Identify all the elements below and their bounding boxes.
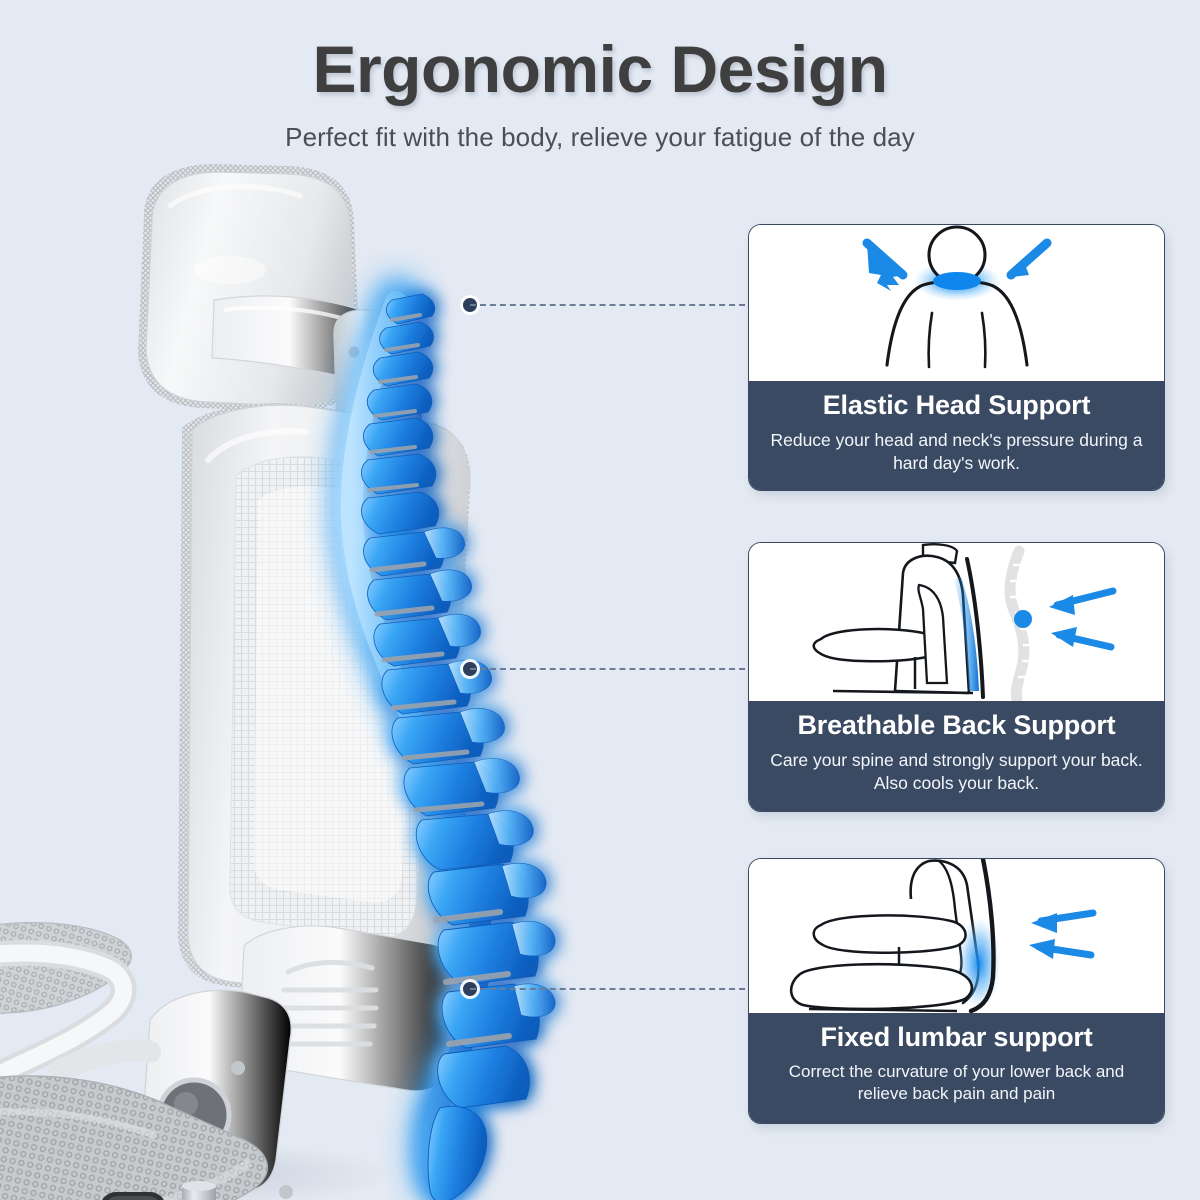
head-neck-support-icon bbox=[807, 225, 1107, 381]
chair-lumbar-icon bbox=[787, 859, 1127, 1013]
header: Ergonomic Design Perfect fit with the bo… bbox=[0, 0, 1200, 172]
bracket-bolt-top bbox=[231, 1061, 245, 1075]
product-image-chair-with-spine bbox=[0, 160, 748, 1200]
arrow-left-icon bbox=[867, 243, 903, 291]
sacrum-coccyx bbox=[427, 1106, 486, 1200]
card-description: Correct the curvature of your lower back… bbox=[763, 1061, 1150, 1106]
connector-back bbox=[463, 662, 755, 676]
connector-head bbox=[463, 298, 755, 312]
card-figure-head bbox=[749, 225, 1164, 381]
connector-line-lumbar bbox=[470, 988, 755, 990]
card-title: Elastic Head Support bbox=[763, 390, 1150, 422]
feature-card-breathable-back-support[interactable]: Breathable Back Support Care your spine … bbox=[748, 542, 1165, 812]
arrow-upper-icon bbox=[1031, 913, 1093, 933]
arrow-right-icon bbox=[1011, 243, 1047, 277]
connector-lumbar bbox=[463, 982, 755, 996]
bracket-bolt-bottom bbox=[279, 1185, 293, 1199]
card-body-head: Elastic Head Support Reduce your head an… bbox=[749, 381, 1164, 490]
card-title: Fixed lumbar support bbox=[763, 1022, 1150, 1054]
page-subtitle: Perfect fit with the body, relieve your … bbox=[0, 122, 1200, 153]
card-description: Care your spine and strongly support you… bbox=[763, 749, 1150, 796]
spine-target-dot bbox=[1014, 610, 1032, 628]
connector-line-head bbox=[470, 304, 755, 306]
card-figure-lumbar bbox=[749, 859, 1164, 1013]
chair-back-spine-icon bbox=[777, 543, 1137, 701]
card-description: Reduce your head and neck's pressure dur… bbox=[763, 429, 1150, 476]
arrow-lower-icon bbox=[1051, 627, 1111, 647]
arrow-upper-icon bbox=[1049, 591, 1113, 615]
feature-card-elastic-head-support[interactable]: Elastic Head Support Reduce your head an… bbox=[748, 224, 1165, 491]
card-body-back: Breathable Back Support Care your spine … bbox=[749, 701, 1164, 811]
arrow-lower-icon bbox=[1029, 939, 1091, 959]
card-title: Breathable Back Support bbox=[763, 710, 1150, 742]
card-figure-back bbox=[749, 543, 1164, 701]
feature-card-fixed-lumbar-support[interactable]: Fixed lumbar support Correct the curvatu… bbox=[748, 858, 1165, 1124]
page-title: Ergonomic Design bbox=[0, 36, 1200, 102]
chair-headrest bbox=[138, 164, 360, 412]
card-body-lumbar: Fixed lumbar support Correct the curvatu… bbox=[749, 1013, 1164, 1123]
connector-line-back bbox=[470, 668, 755, 670]
